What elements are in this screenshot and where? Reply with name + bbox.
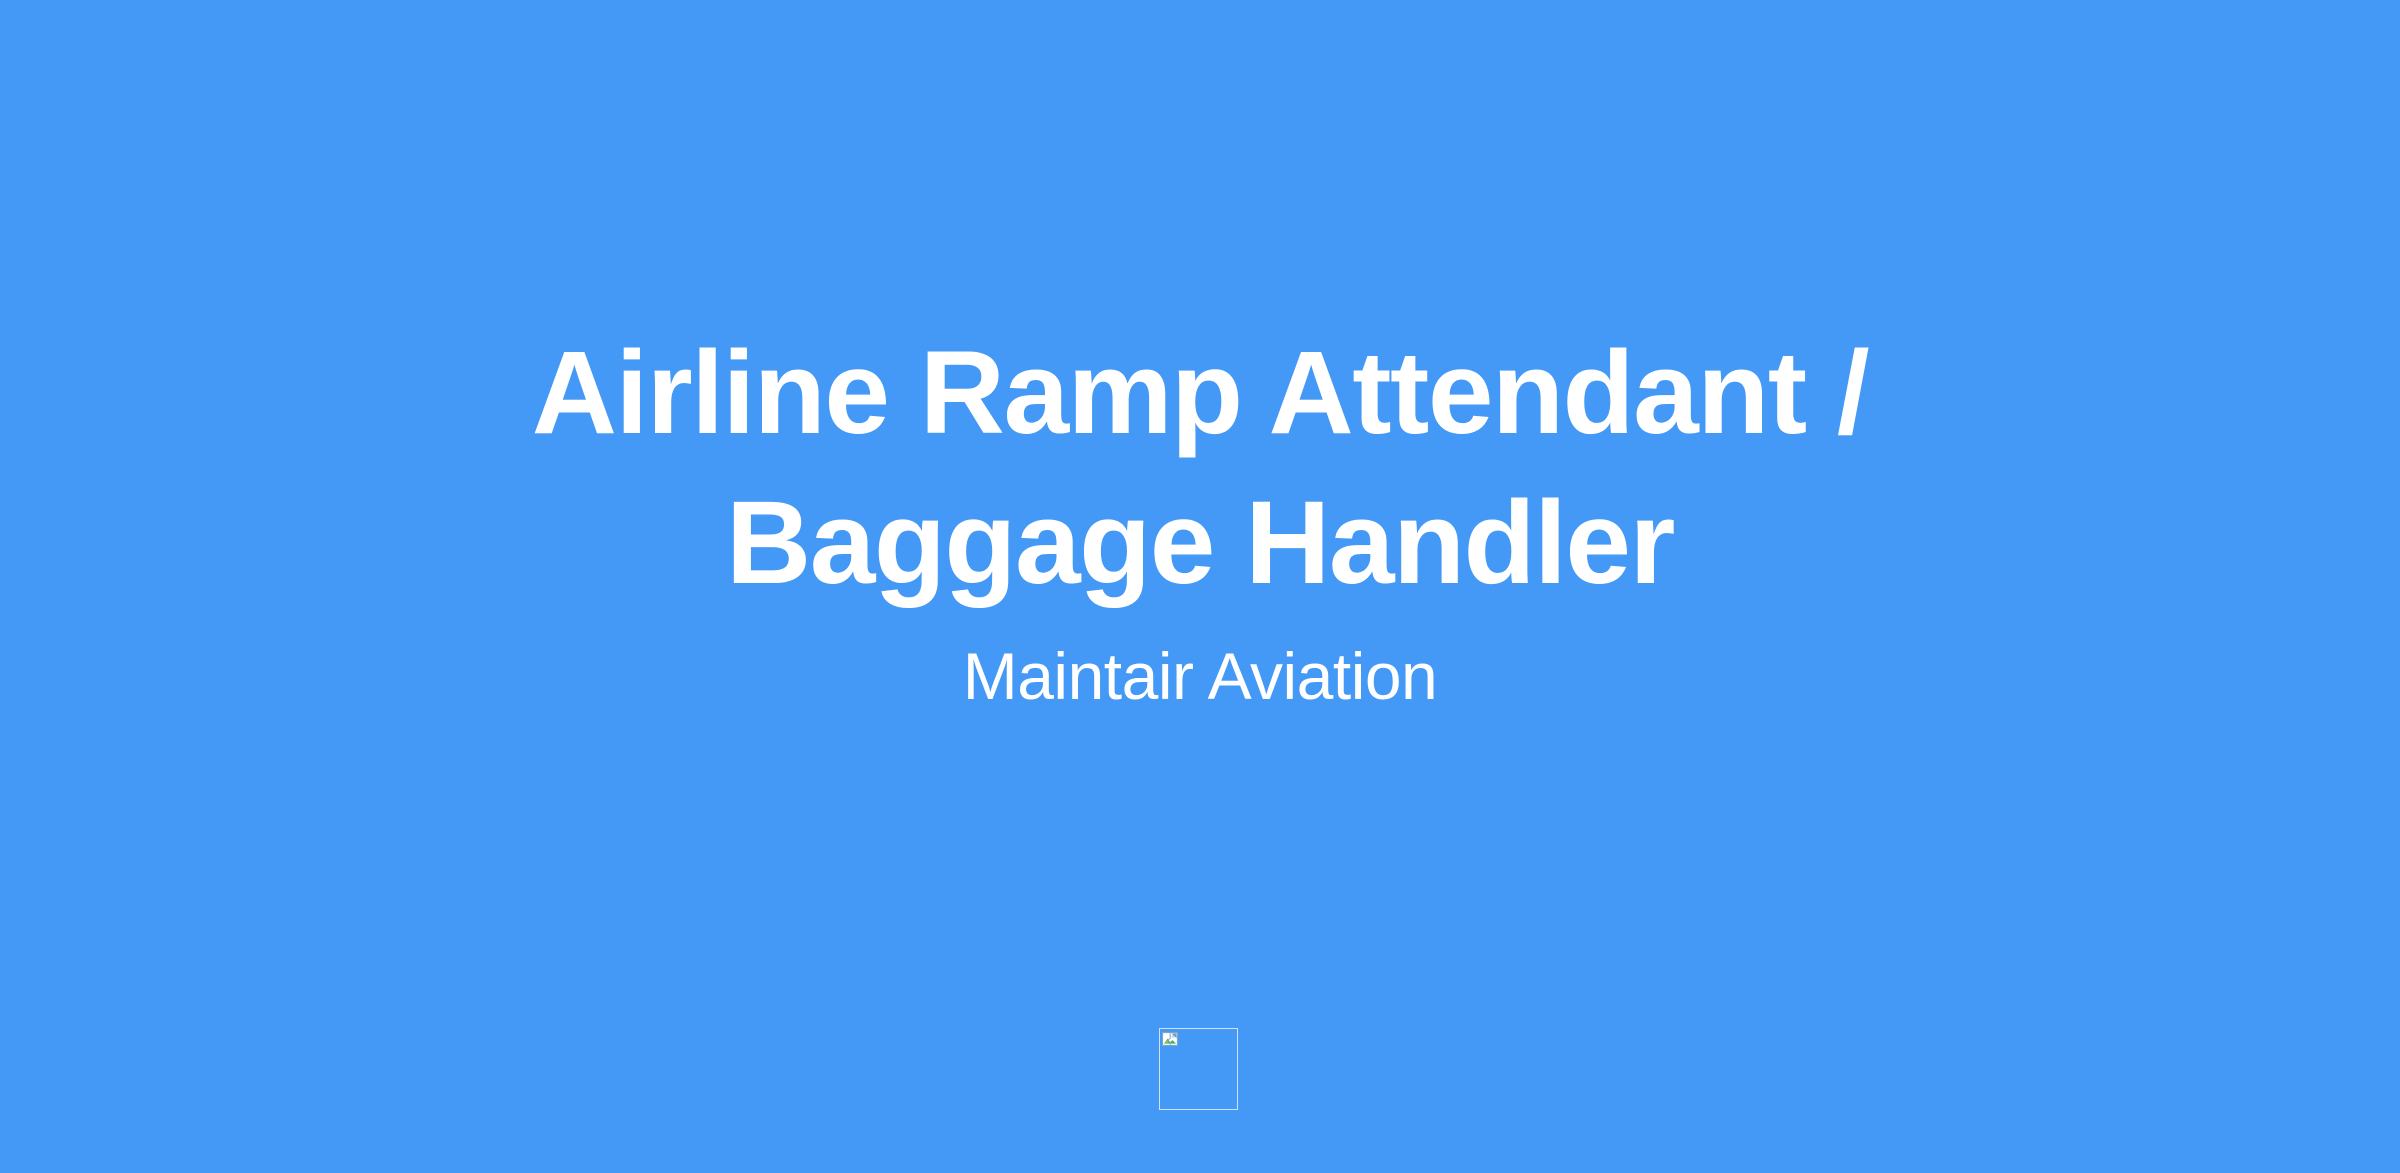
broken-image-placeholder[interactable]	[1159, 1028, 1238, 1110]
broken-image-icon	[1161, 1030, 1181, 1050]
hero-section: Airline Ramp Attendant / Baggage Handler…	[0, 0, 2400, 716]
company-name: Maintair Aviation	[963, 636, 1438, 716]
company-logo-slot	[1159, 1028, 1238, 1110]
page-title: Airline Ramp Attendant / Baggage Handler	[470, 318, 1930, 618]
job-posting-header-page: Airline Ramp Attendant / Baggage Handler…	[0, 0, 2400, 1173]
